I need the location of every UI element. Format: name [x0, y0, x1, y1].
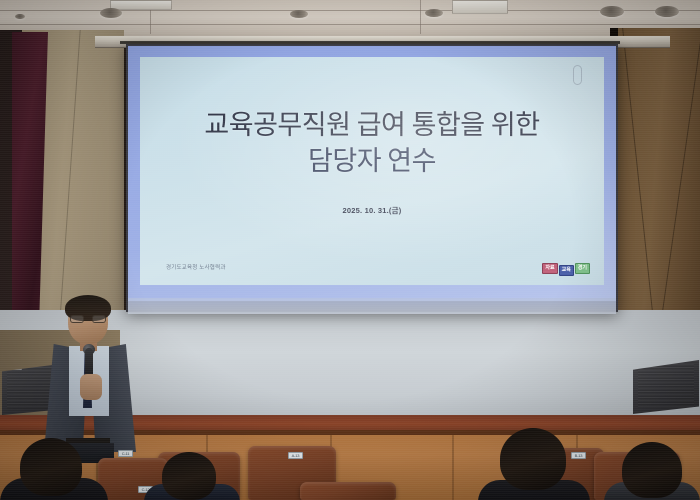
ceiling-downlight [100, 8, 122, 18]
seat-number-tag: B-13 [571, 452, 586, 459]
ceiling-vent [110, 0, 172, 10]
avatar [162, 452, 216, 500]
paperclip-icon [573, 65, 582, 85]
table-row [300, 482, 396, 500]
slide-title-line-2: 담당자 연수 [140, 143, 604, 179]
ceiling-downlight [425, 9, 443, 17]
avatar [20, 438, 82, 496]
ceiling-vent [452, 0, 508, 14]
slide-date: 2025. 10. 31.(금) [140, 205, 604, 216]
presenter-hands [80, 374, 102, 400]
avatar [500, 428, 566, 490]
avatar [622, 442, 682, 498]
speaker-grille [638, 364, 694, 408]
slide-title: 교육공무직원 급여 통합을 위한 담당자 연수 [140, 107, 604, 179]
ceiling-seam [0, 24, 700, 25]
ceiling-downlight [15, 14, 25, 19]
glasses-icon [70, 315, 106, 323]
ceiling-seam [420, 0, 421, 34]
auditorium-photo: 교육공무직원 급여 통합을 위한 담당자 연수 2025. 10. 31.(금)… [0, 0, 700, 500]
presenter [38, 298, 146, 460]
slide-logo: 자료 교육 경기 [542, 263, 590, 274]
logo-block-blue: 교육 [559, 265, 574, 276]
seat-number-tag: A-13 [288, 452, 303, 459]
wainscot-seam [452, 430, 454, 500]
logo-block-red: 자료 [542, 263, 557, 274]
slide-title-line-1: 교육공무직원 급여 통합을 위한 [140, 107, 604, 143]
seat-number-tag: C-11 [118, 450, 133, 457]
projection-screen-skirt [128, 298, 616, 314]
ceiling-downlight [655, 6, 679, 17]
ceiling-downlight [290, 10, 308, 18]
ceiling-downlight [600, 6, 624, 17]
presentation-slide: 교육공무직원 급여 통합을 위한 담당자 연수 2025. 10. 31.(금)… [140, 57, 604, 285]
slide-footer-organization: 경기도교육청 노사협력과 [166, 263, 226, 271]
logo-block-green: 경기 [575, 263, 590, 274]
